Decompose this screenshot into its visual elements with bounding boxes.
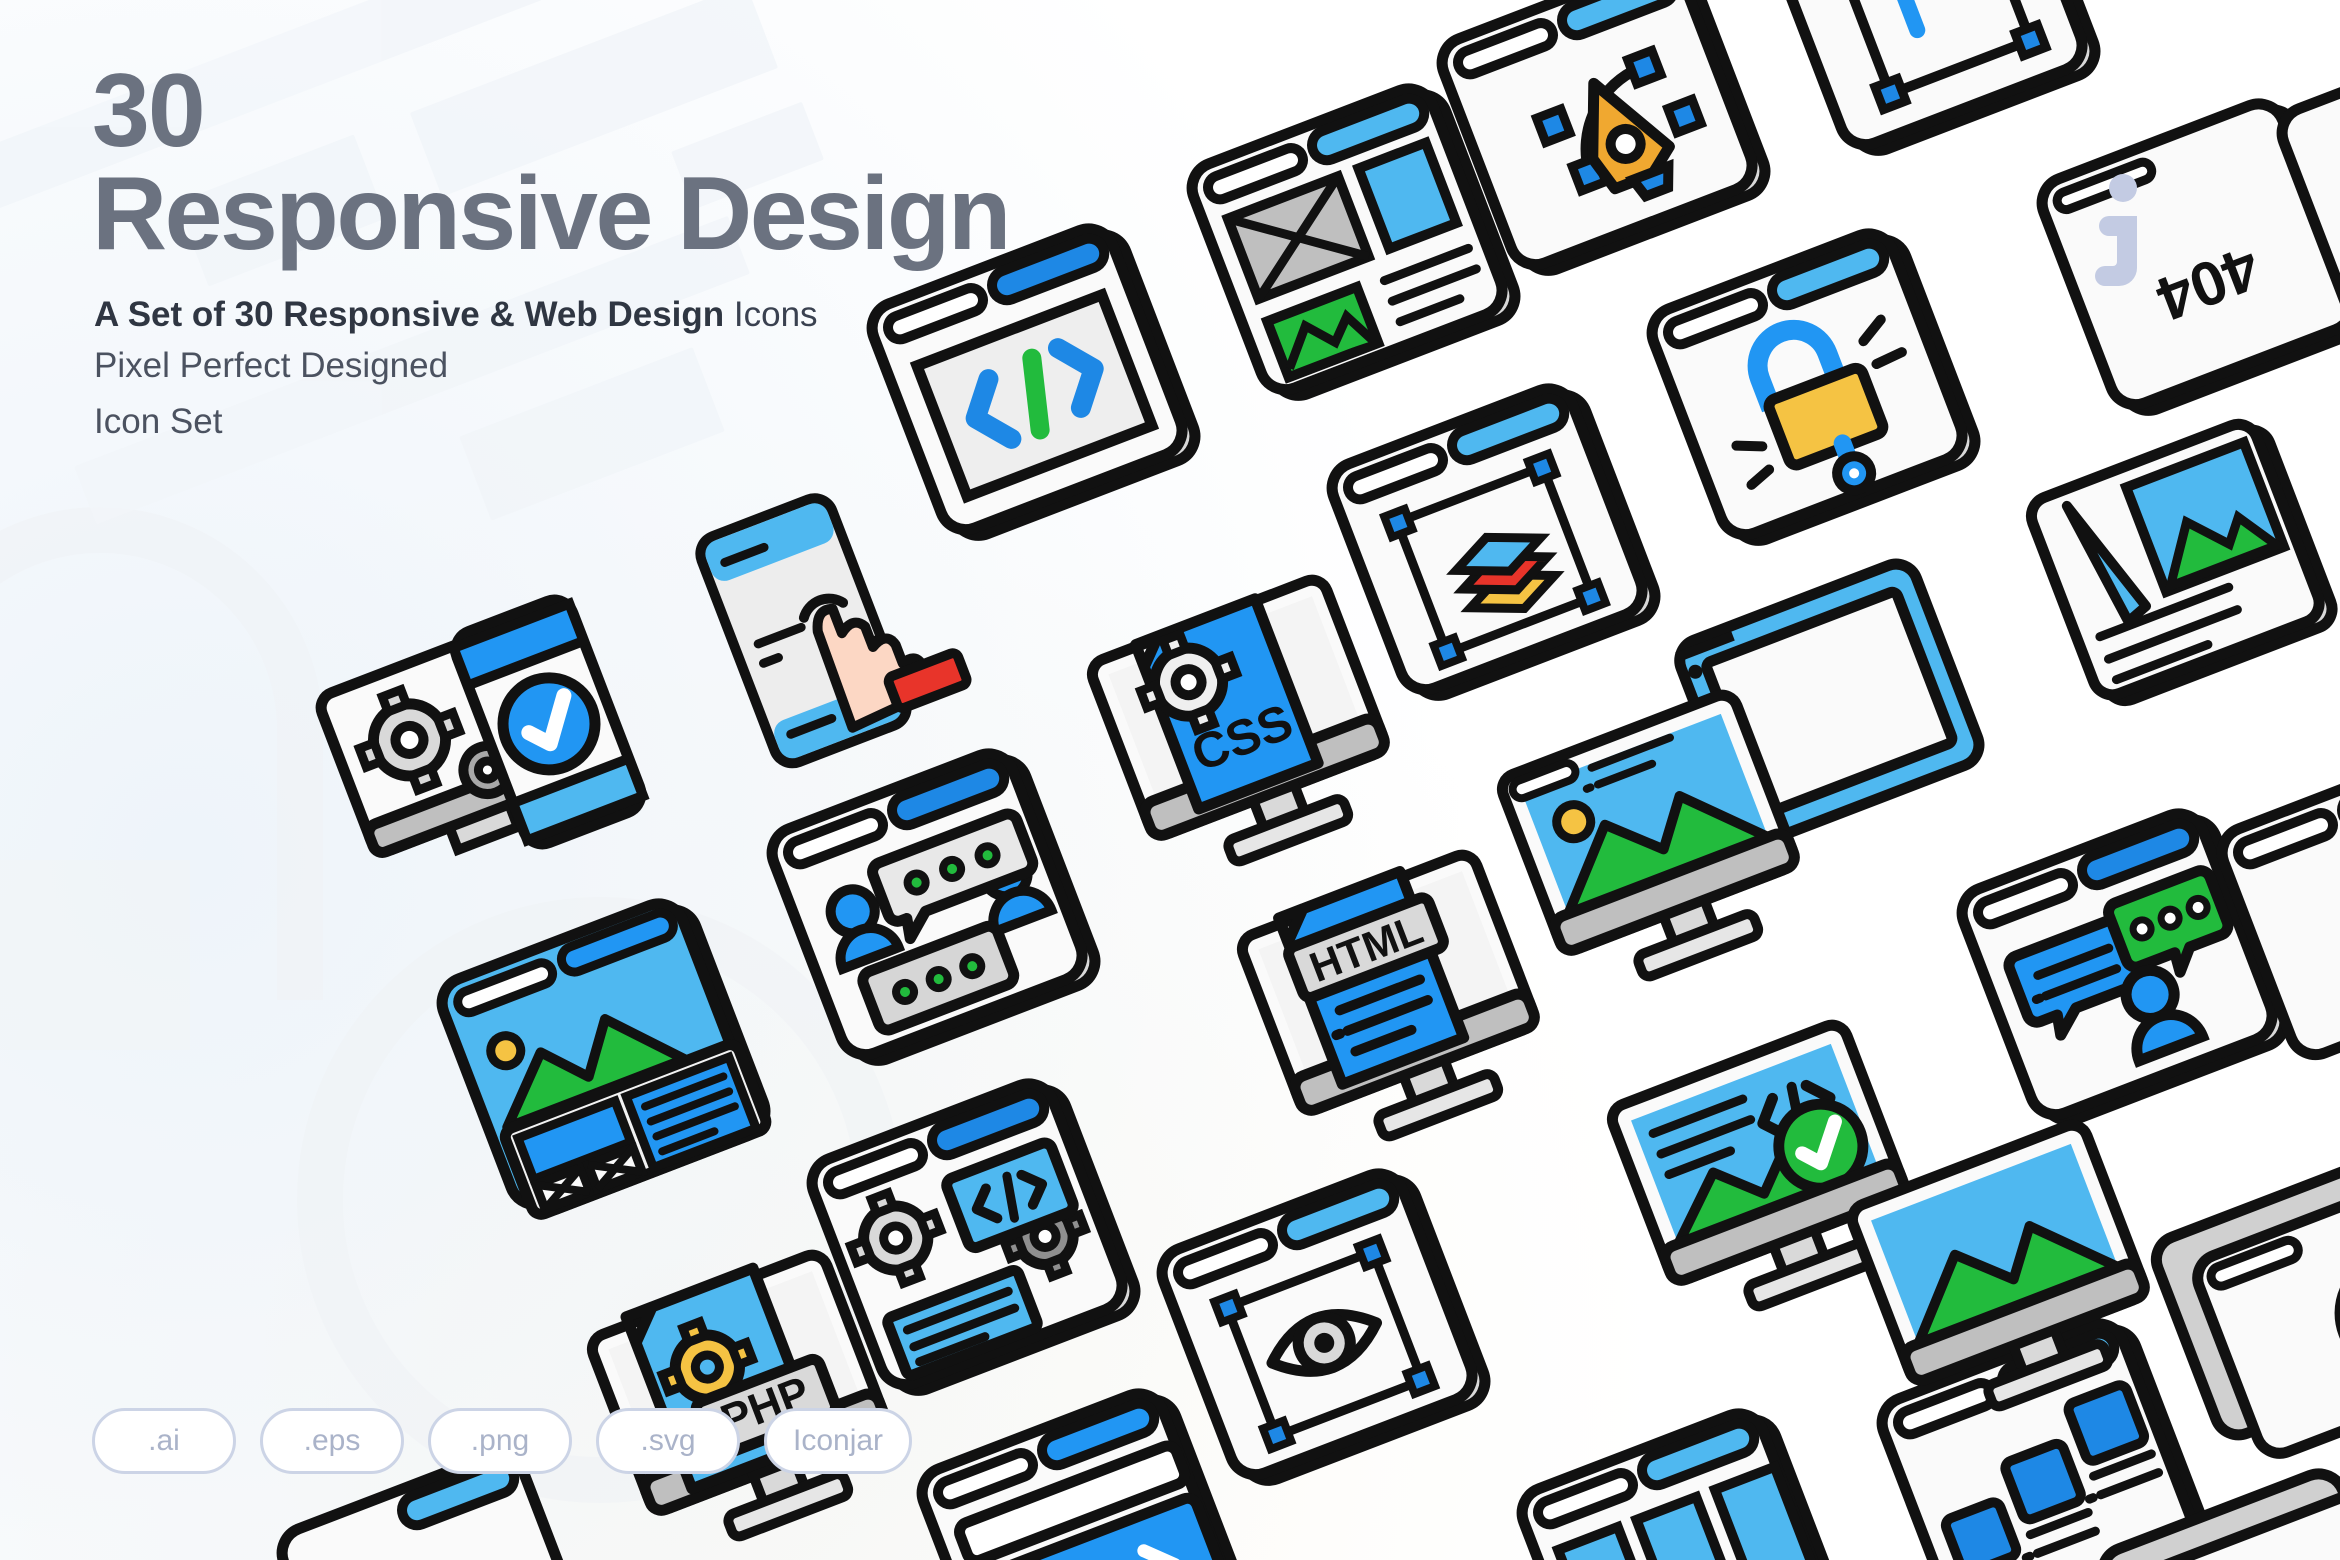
subtitle-strong: A Set of 30 Responsive & Web Design bbox=[94, 295, 724, 334]
text-panel: 30 Responsive Design A Set of 30 Respons… bbox=[0, 0, 1000, 1560]
format-badge-iconjar[interactable]: Iconjar bbox=[764, 1408, 912, 1474]
headline-block: 30 Responsive Design bbox=[92, 64, 1009, 266]
iconjar-j-glyph bbox=[2075, 172, 2165, 302]
format-badge-list: .ai .eps .png .svg Iconjar bbox=[92, 1408, 912, 1474]
format-badge-svg[interactable]: .svg bbox=[596, 1408, 740, 1474]
format-badge-png[interactable]: .png bbox=[428, 1408, 572, 1474]
format-badge-eps[interactable]: .eps bbox=[260, 1408, 404, 1474]
subtitle-rest: Icons bbox=[724, 295, 817, 334]
page-title: Responsive Design bbox=[92, 162, 1009, 266]
subtitle-line-3: Icon Set bbox=[94, 394, 818, 450]
icon-count: 30 bbox=[92, 64, 1009, 160]
subtitle-line-2: Pixel Perfect Designed bbox=[94, 338, 818, 394]
subtitle-line-1: A Set of 30 Responsive & Web Design Icon… bbox=[94, 293, 818, 338]
icon-tablet-stylus-design bbox=[1996, 376, 2340, 764]
icon-browser-columns bbox=[1496, 1376, 1884, 1560]
format-badge-ai[interactable]: .ai bbox=[92, 1408, 236, 1474]
icon-browser-lock bbox=[1626, 196, 2014, 584]
subtitle-block: A Set of 30 Responsive & Web Design Icon… bbox=[94, 293, 818, 450]
